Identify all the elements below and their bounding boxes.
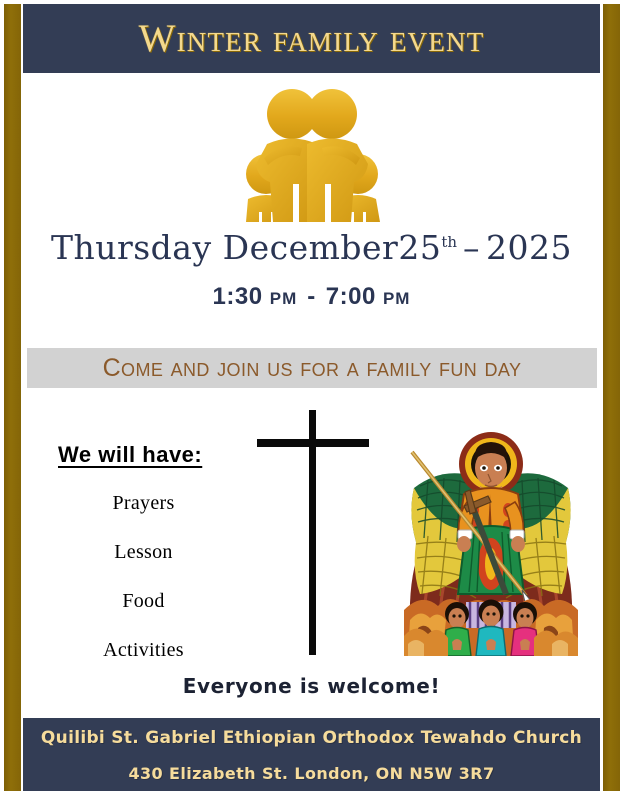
list-item: Activities <box>56 639 231 662</box>
event-start-ampm: PM <box>270 289 298 308</box>
header-banner: Winter family event <box>23 4 600 73</box>
footer-banner: Quilibi St. Gabriel Ethiopian Orthodox T… <box>23 718 600 791</box>
event-day-suffix: th <box>441 233 457 251</box>
activities-heading: We will have: <box>58 442 202 468</box>
saint-gabriel-icon <box>404 424 578 656</box>
event-date: Thursday December25th–2025 <box>0 228 623 267</box>
event-day: 25 <box>398 228 441 267</box>
list-item: Prayers <box>56 492 231 515</box>
event-weekday-month: Thursday December <box>51 228 398 267</box>
list-item: Lesson <box>56 541 231 564</box>
list-item: Food <box>56 590 231 613</box>
event-time: 1:30 PM-7:00 PM <box>0 283 623 311</box>
church-name: Quilibi St. Gabriel Ethiopian Orthodox T… <box>41 728 582 748</box>
welcome-text: Everyone is welcome! <box>0 674 623 698</box>
page-title: Winter family event <box>139 19 485 58</box>
poster-canvas: Winter family event <box>0 0 623 791</box>
event-time-separator: - <box>297 283 326 310</box>
latin-cross-icon <box>252 410 380 655</box>
event-end-ampm: PM <box>383 289 411 308</box>
event-start-time: 1:30 <box>213 283 263 310</box>
church-address: 430 Elizabeth St. London, ON N5W 3R7 <box>128 764 494 783</box>
invitation-banner-text: Come and join us for a family fun day <box>103 354 522 383</box>
event-year: 2025 <box>486 228 572 267</box>
invitation-banner: Come and join us for a family fun day <box>27 348 597 388</box>
activities-list: Prayers Lesson Food Activities <box>56 492 231 688</box>
event-date-dash: – <box>457 228 486 267</box>
content-area: We will have: Prayers Lesson Food Activi… <box>0 400 623 670</box>
cross-horizontal-bar <box>257 439 369 447</box>
event-end-time: 7:00 <box>326 283 376 310</box>
family-group-icon <box>0 84 623 222</box>
